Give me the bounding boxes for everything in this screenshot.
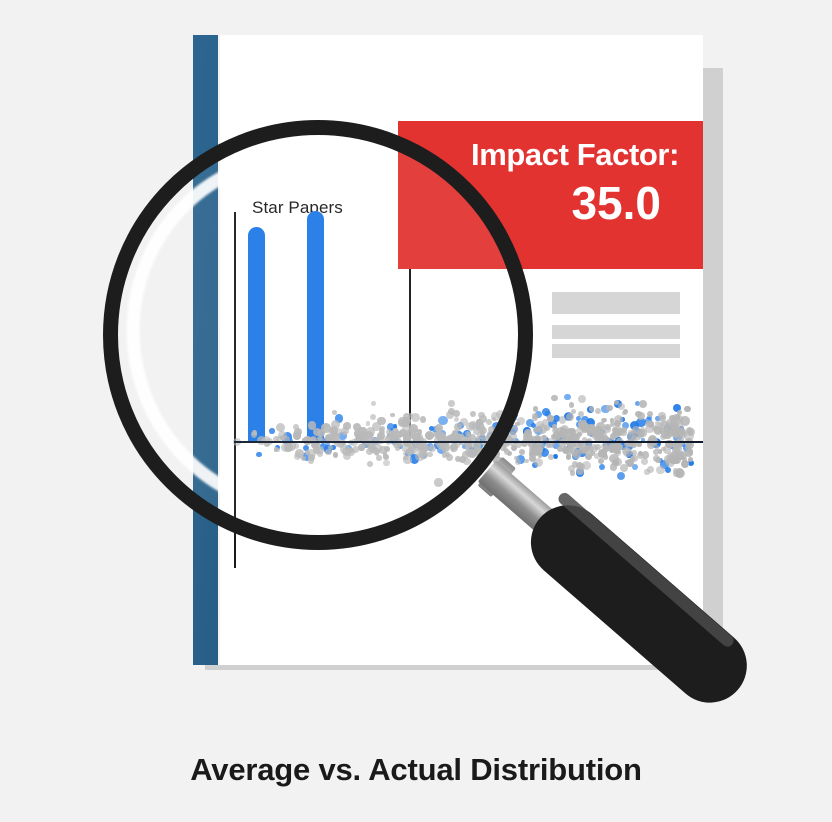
scatter-point [493,456,502,465]
scatter-point [655,421,660,426]
scatter-point [454,423,462,431]
scatter-point [603,418,608,423]
scatter-point [446,411,454,419]
scatter-point [671,429,677,435]
scatter-point [647,411,653,417]
scatter-point [628,430,633,435]
impact-factor-label: Impact Factor: [398,137,679,173]
scatter-point [581,424,589,432]
scatter-point [450,444,458,452]
scatter-point [604,424,610,430]
scatter-point [383,460,389,466]
scatter-point [515,459,521,465]
scatter-point [434,478,442,486]
document-spine [193,35,218,665]
scatter-point [606,405,613,412]
scatter-point [622,411,627,416]
scatter-point [562,446,570,454]
scatter-point [585,446,590,451]
scatter-point [535,443,544,452]
scatter-point [377,432,385,440]
scatter-point [551,395,557,401]
star-paper-bar [248,227,265,441]
impact-factor-banner: Impact Factor: 35.0 [398,121,703,269]
scatter-point [509,425,518,434]
star-papers-annotation: Star Papers [252,198,343,218]
illustration-canvas: Star Papers Impact Factor: 35.0 Average … [0,0,832,822]
scatter-point [436,427,442,433]
scatter-point [594,426,603,435]
star-paper-bar [307,211,324,441]
scatter-point [682,457,687,462]
scatter-point [305,450,310,455]
scatter-point [677,410,682,415]
scatter-point [656,466,665,475]
text-bar-1 [552,292,680,314]
scatter-point [328,445,333,450]
scatter-point [427,452,433,458]
scatter-point [341,427,349,435]
scatter-point [365,431,373,439]
chart-x-axis [234,441,703,443]
scatter-point [402,421,408,427]
scatter-point [670,452,678,460]
scatter-point [395,446,400,451]
scatter-point [566,413,574,421]
scatter-point [672,414,680,422]
scatter-point [472,423,477,428]
scatter-point [599,464,605,470]
scatter-point [544,425,550,431]
scatter-point [637,412,645,420]
scatter-point [519,449,525,455]
scatter-point [641,458,648,465]
scatter-point [504,449,510,455]
scatter-point [353,423,361,431]
scatter-point [366,421,371,426]
chart-y-axis [234,212,236,568]
scatter-point [631,455,638,462]
scatter-point [661,430,670,439]
scatter-point [532,413,538,419]
scatter-point [343,452,351,460]
scatter-point [534,458,543,467]
scatter-point [376,455,382,461]
scatter-point [252,430,258,436]
scatter-point [685,406,690,411]
scatter-point [673,470,679,476]
scatter-point [256,452,262,458]
scatter-point [413,429,419,435]
scatter-point [379,428,384,433]
scatter-point [370,414,376,420]
scatter-point [658,412,666,420]
scatter-point [610,418,615,423]
scatter-point [658,449,663,454]
impact-factor-value: 35.0 [398,177,679,230]
scatter-point [524,459,529,464]
scatter-point [470,411,476,417]
text-bar-3 [552,344,680,358]
scatter-point [617,472,625,480]
scatter-point [367,461,373,467]
caption-title: Average vs. Actual Distribution [0,752,832,788]
scatter-point [397,433,401,437]
scatter-point [578,411,584,417]
scatter-point [569,402,575,408]
scatter-point [533,406,539,412]
scatter-point [548,454,554,460]
scatter-point [467,449,476,458]
scatter-point [452,430,458,436]
scatter-point [620,464,628,472]
scatter-point [595,408,601,414]
scatter-point [425,431,434,440]
scatter-point [316,446,325,455]
text-bar-2 [552,325,680,339]
scatter-point [420,416,426,422]
scatter-point [639,400,647,408]
scatter-point [578,395,586,403]
scatter-point [269,428,274,433]
scatter-point [428,445,436,453]
scatter-point [585,453,592,460]
scatter-point [373,448,380,455]
scatter-point [577,432,582,437]
scatter-point [371,401,376,406]
scatter-point [564,394,570,400]
scatter-point [638,432,645,439]
scatter-point [559,416,566,423]
scatter-point [437,443,444,450]
scatter-point [294,443,299,448]
scatter-point [446,454,453,461]
scatter-point [384,446,390,452]
scatter-point [517,417,525,425]
scatter-point [512,412,518,418]
scatter-point [448,400,455,407]
scatter-point [648,435,657,444]
scatter-point [406,448,413,455]
scatter-point [352,446,359,453]
scatter-point [473,464,481,472]
scatter-point [598,449,606,457]
scatter-point [333,452,338,457]
scatter-point [648,422,654,428]
scatter-point [325,449,331,455]
scatter-point [454,417,459,422]
scatter-point [293,424,299,430]
scatter-point [473,428,480,435]
scatter-point [453,410,460,417]
scatter-point [323,424,328,429]
scatter-point [684,432,694,442]
scatter-point [390,413,395,418]
scatter-point [383,454,389,460]
scatter-point [613,426,621,434]
scatter-point [529,452,534,457]
scatter-point [653,455,660,462]
scatter-point [616,449,621,454]
scatter-point [274,447,279,452]
scatter-point [647,466,654,473]
